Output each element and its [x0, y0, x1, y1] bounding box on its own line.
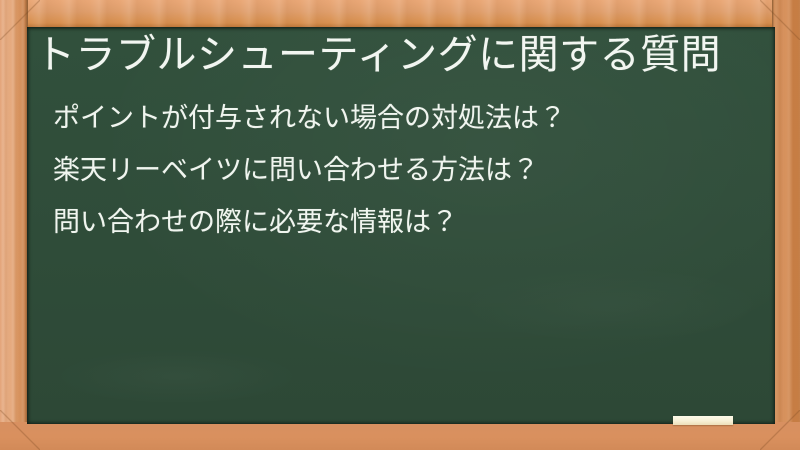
frame-rail-bottom: [0, 422, 800, 450]
slide-canvas: トラブルシューティングに関する質問 ポイントが付与されない場合の対処法は？ 楽天…: [0, 0, 800, 450]
question-list: ポイントが付与されない場合の対処法は？ 楽天リーベイツに問い合わせる方法は？ 問…: [53, 105, 566, 236]
board-content: トラブルシューティングに関する質問 ポイントが付与されない場合の対処法は？ 楽天…: [27, 27, 775, 424]
frame-rail-top: [0, 0, 800, 28]
slide-title: トラブルシューティングに関する質問: [35, 30, 721, 80]
question-item-1: ポイントが付与されない場合の対処法は？: [53, 105, 566, 132]
question-item-2: 楽天リーベイツに問い合わせる方法は？: [53, 157, 566, 184]
chalkboard-surface: トラブルシューティングに関する質問 ポイントが付与されない場合の対処法は？ 楽天…: [27, 27, 775, 424]
frame-rail-left: [0, 0, 28, 450]
question-item-3: 問い合わせの際に必要な情報は？: [53, 209, 566, 236]
frame-rail-right: [772, 0, 800, 450]
